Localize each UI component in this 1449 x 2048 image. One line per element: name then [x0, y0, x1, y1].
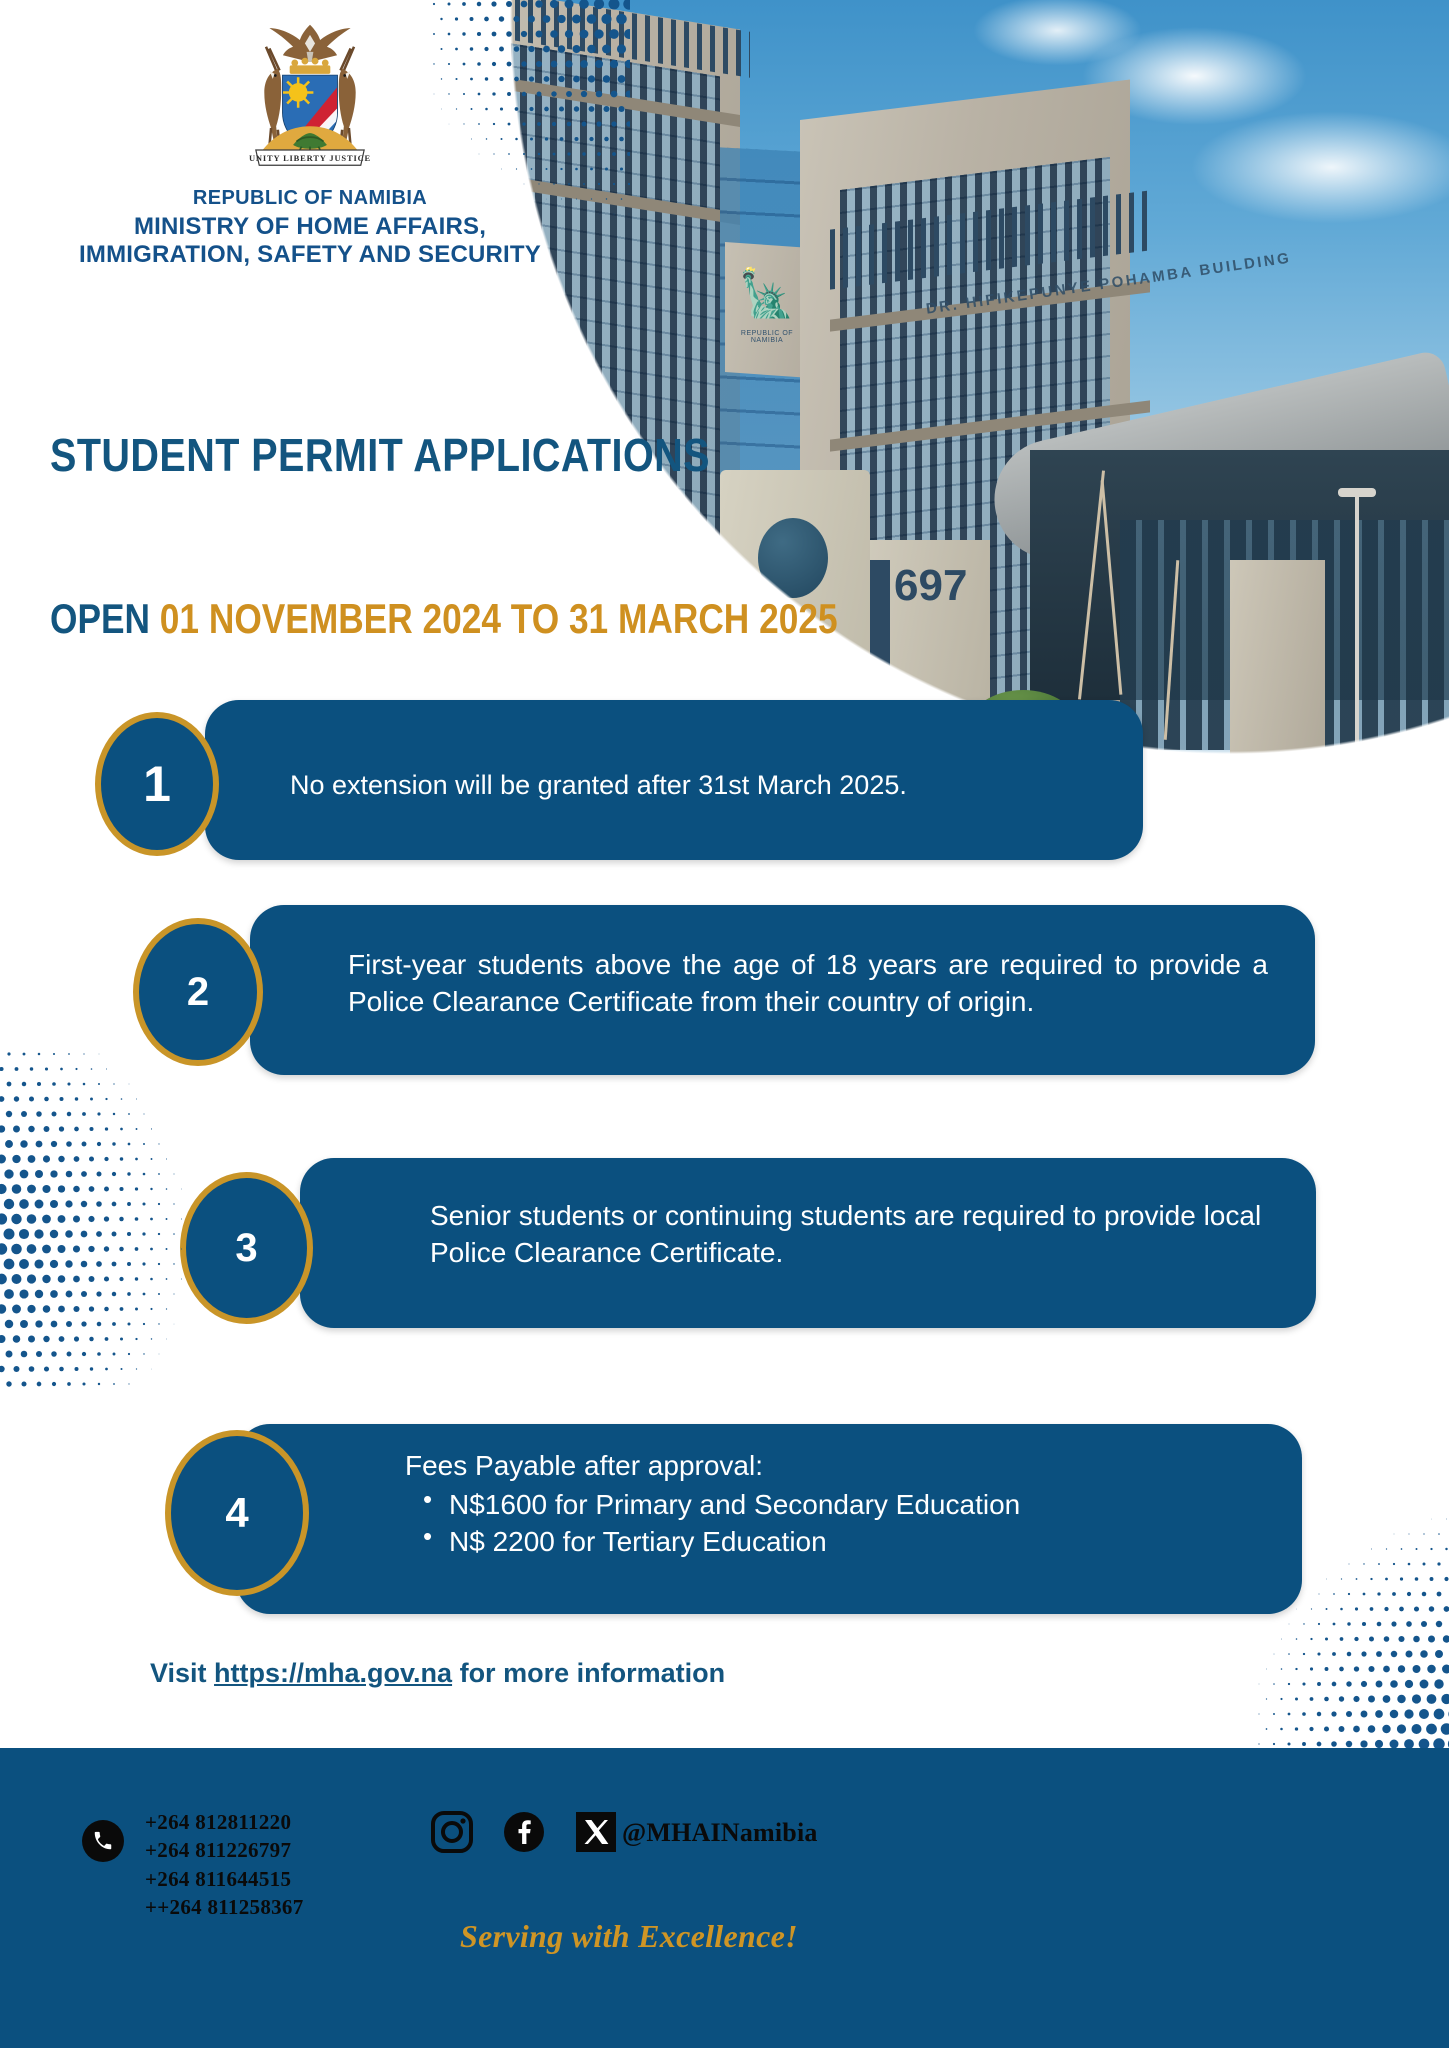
item-3-text: Senior students or continuing students a…: [430, 1198, 1300, 1272]
item-1-number-text: 1: [143, 755, 171, 813]
ministry-line-1: MINISTRY OF HOME AFFAIRS,: [0, 213, 620, 241]
ministry-logo-block: UNITY LIBERTY JUSTICE REPUBLIC OF NAMIBI…: [0, 18, 620, 269]
item-2-text: First-year students above the age of 18 …: [348, 947, 1268, 1021]
visit-line: Visit https://mha.gov.na for more inform…: [150, 1658, 725, 1689]
phone-icon: [82, 1820, 124, 1862]
item-4-number-text: 4: [225, 1489, 248, 1537]
website-link[interactable]: https://mha.gov.na: [214, 1658, 452, 1688]
visit-prefix: Visit: [150, 1658, 207, 1688]
halftone-dots-right: [1255, 1440, 1449, 1750]
open-label: OPEN: [50, 595, 150, 642]
social-links: [430, 1810, 618, 1854]
building-crest-icon: 🗽: [738, 262, 794, 332]
fees-list-item: N$ 2200 for Tertiary Education: [449, 1524, 1265, 1561]
ministry-line-2: IMMIGRATION, SAFETY AND SECURITY: [0, 241, 620, 269]
open-range: 01 NOVEMBER 2024 TO 31 MARCH 2025: [160, 595, 838, 642]
phone-number: +264 811644515: [145, 1865, 304, 1893]
item-3-number: 3: [180, 1172, 313, 1324]
open-dateline: OPEN 01 NOVEMBER 2024 TO 31 MARCH 2025: [50, 595, 838, 643]
republic-line: REPUBLIC OF NAMIBIA: [0, 187, 620, 210]
tagline: Serving with Excellence!: [460, 1918, 798, 1955]
street-number-text: 697: [894, 561, 967, 610]
item-4-text: Fees Payable after approval: N$1600 for …: [405, 1448, 1265, 1561]
item-2-number: 2: [133, 918, 263, 1066]
phone-numbers: +264 812811220 +264 811226797 +264 81164…: [145, 1808, 304, 1921]
item-4-number: 4: [165, 1430, 309, 1596]
fees-title: Fees Payable after approval:: [405, 1448, 1265, 1485]
item-1-number: 1: [95, 712, 219, 856]
phone-number: +264 812811220: [145, 1808, 304, 1836]
halftone-dots-left: [0, 1050, 190, 1390]
facebook-icon[interactable]: [502, 1810, 546, 1854]
phone-number: ++264 811258367: [145, 1893, 304, 1921]
light-pole: [1355, 495, 1359, 745]
ministry-name: MINISTRY OF HOME AFFAIRS, IMMIGRATION, S…: [0, 213, 620, 269]
visit-suffix: for more information: [460, 1658, 726, 1688]
item-3-number-text: 3: [235, 1226, 257, 1271]
item-2-number-text: 2: [187, 970, 209, 1015]
entrance-stone-column: [1230, 560, 1325, 760]
fees-list-item: N$1600 for Primary and Secondary Educati…: [449, 1487, 1265, 1524]
item-1-text: No extension will be granted after 31st …: [290, 768, 1130, 804]
coat-of-arms-icon: UNITY LIBERTY JUSTICE: [225, 18, 395, 183]
svg-text:UNITY LIBERTY JUSTICE: UNITY LIBERTY JUSTICE: [249, 153, 371, 163]
social-handle: @MHAINamibia: [622, 1818, 818, 1848]
page-title: STUDENT PERMIT APPLICATIONS: [50, 428, 710, 482]
phone-number: +264 811226797: [145, 1836, 304, 1864]
street-number: 697: [894, 555, 954, 617]
building-crest-caption: REPUBLIC OF NAMIBIA: [732, 330, 802, 344]
poster-root: 🗽 REPUBLIC OF NAMIBIA DR. HIFIKEPUNYE PO…: [0, 0, 1449, 2048]
light-pole-head: [1338, 488, 1376, 497]
x-twitter-icon[interactable]: [574, 1810, 618, 1854]
instagram-icon[interactable]: [430, 1810, 474, 1854]
footer: +264 812811220 +264 811226797 +264 81164…: [0, 1748, 1449, 2048]
fees-list: N$1600 for Primary and Secondary Educati…: [449, 1487, 1265, 1561]
porthole-upper: [758, 518, 828, 598]
